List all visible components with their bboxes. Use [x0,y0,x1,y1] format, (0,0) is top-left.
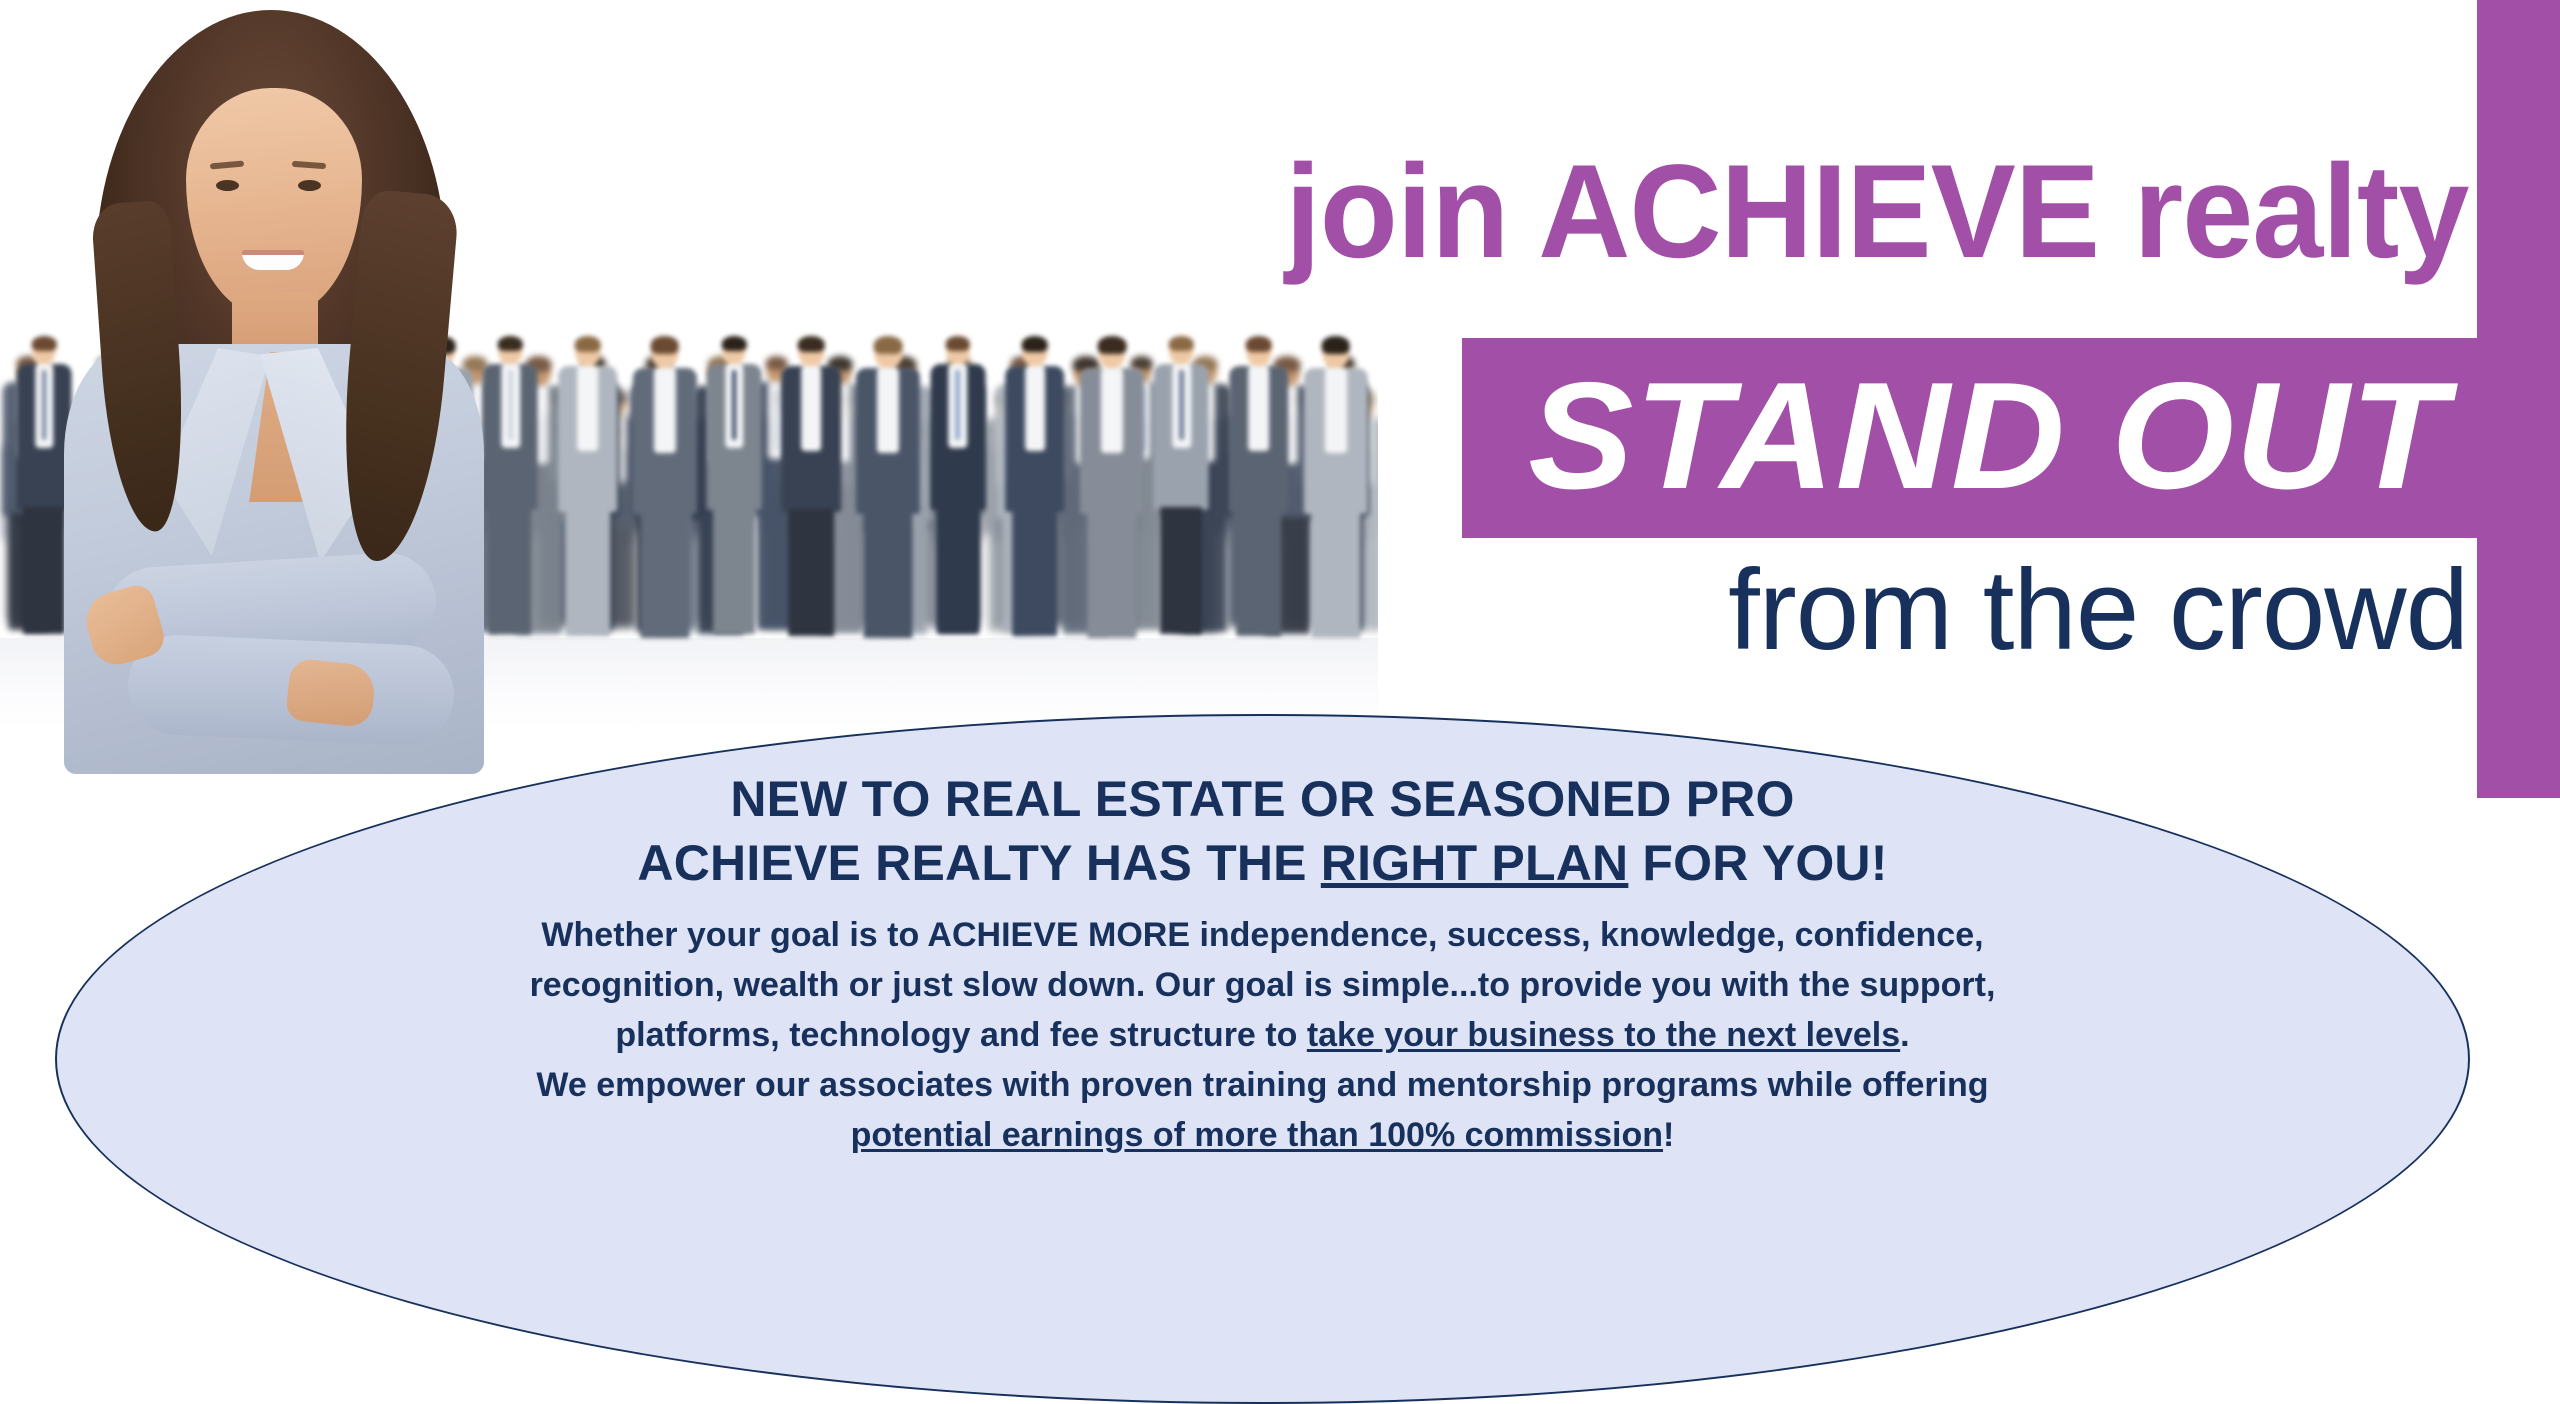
crowd-person-shirt [801,366,821,451]
crowd-person-hair [1022,336,1049,352]
crowd-person-legs [864,511,913,638]
callout-content: NEW TO REAL ESTATE OR SEASONED PRO ACHIE… [55,714,2470,1404]
body-line-3: platforms, technology and fee structure … [55,1010,2470,1060]
crowd-person-shirt [1248,366,1268,451]
crowd-person [705,338,763,656]
crowd-person-legs [937,507,979,634]
crowd-person-tie [1179,370,1184,440]
body-line-1: Whether your goal is to ACHIEVE MORE ind… [55,910,2470,960]
crowd-person-shirt [1025,366,1045,451]
crowd-person-shirt [654,368,676,453]
crowd-person-torso [707,364,762,510]
crowd-person-legs [713,507,755,634]
crowd-person-torso [632,368,696,514]
crowd-person-tie [732,370,737,440]
crowd-person-torso [558,366,618,512]
crowd-person-hair [1245,336,1272,352]
smile [242,250,304,270]
callout-heading-line1: NEW TO REAL ESTATE OR SEASONED PRO [55,768,2470,830]
crowd-person-hair [946,336,970,351]
crowd-person-shirt [577,366,597,451]
crowd-person-hair [1098,336,1127,354]
crowd-person-shirt [1101,368,1123,453]
crowd-person-hair [1321,336,1350,354]
crowd-person-torso [1080,368,1144,514]
crowd-person [556,338,619,656]
crowd-person-hair [722,336,746,351]
crowd-person-tie [775,387,780,451]
crowd-person-hair [1169,336,1193,351]
crowd-person-torso [930,364,985,510]
crowd-person-hair [874,336,903,354]
callout-body: Whether your goal is to ACHIEVE MORE ind… [55,910,2470,1160]
crowd-person-torso [1005,366,1065,512]
crowd-person-hair [574,336,601,352]
body-line5-underlined: potential earnings of more than 100% com… [851,1116,1663,1154]
crowd-person [929,338,987,656]
heading2-after: FOR YOU! [1628,835,1887,891]
banner-stage: join ACHIEVE realty STAND OUT from the c… [0,0,2560,1249]
body-line3-before: platforms, technology and fee structure … [615,1016,1306,1054]
crowd-person-torso [1303,368,1367,514]
body-line3-after: . [1900,1016,1909,1054]
headline-join-achieve-realty: join ACHIEVE realty [579,148,2480,278]
callout-heading-line2: ACHIEVE REALTY HAS THE RIGHT PLAN FOR YO… [55,832,2470,894]
body-line5-after: ! [1663,1116,1674,1154]
body-line-5: potential earnings of more than 100% com… [55,1110,2470,1160]
heading2-underlined-right-plan: RIGHT PLAN [1321,835,1629,891]
crowd-person-legs [565,509,611,636]
crowd-person [630,338,698,656]
crowd-person-legs [788,509,834,636]
eye-right [298,180,321,191]
eye-left [216,180,239,191]
body-line3-underlined: take your business to the next levels [1307,1016,1900,1054]
crowd-person-torso [1154,364,1209,510]
crowd-person [854,338,922,656]
crowd-person-tie [955,370,960,440]
crowd-person-torso [781,366,841,512]
crowd-person-hair [650,336,679,354]
headline-from-the-crowd: from the crowd [1000,548,2468,678]
crowd-person-torso [856,368,920,514]
crowd-person-shirt [1325,368,1347,453]
crowd-person-shirt [877,368,899,453]
crowd-person-legs [640,511,689,638]
crowd-person-hair [798,336,825,352]
headline-stand-out: STAND OUT [1458,336,2519,536]
body-line-4: We empower our associates with proven tr… [55,1060,2470,1110]
crowd-person-torso [1229,366,1289,512]
heading2-before: ACHIEVE REALTY HAS THE [637,835,1320,891]
crowd-person [780,338,843,656]
body-line-2: recognition, wealth or just slow down. O… [55,960,2470,1010]
businesswoman-portrait [10,0,530,792]
